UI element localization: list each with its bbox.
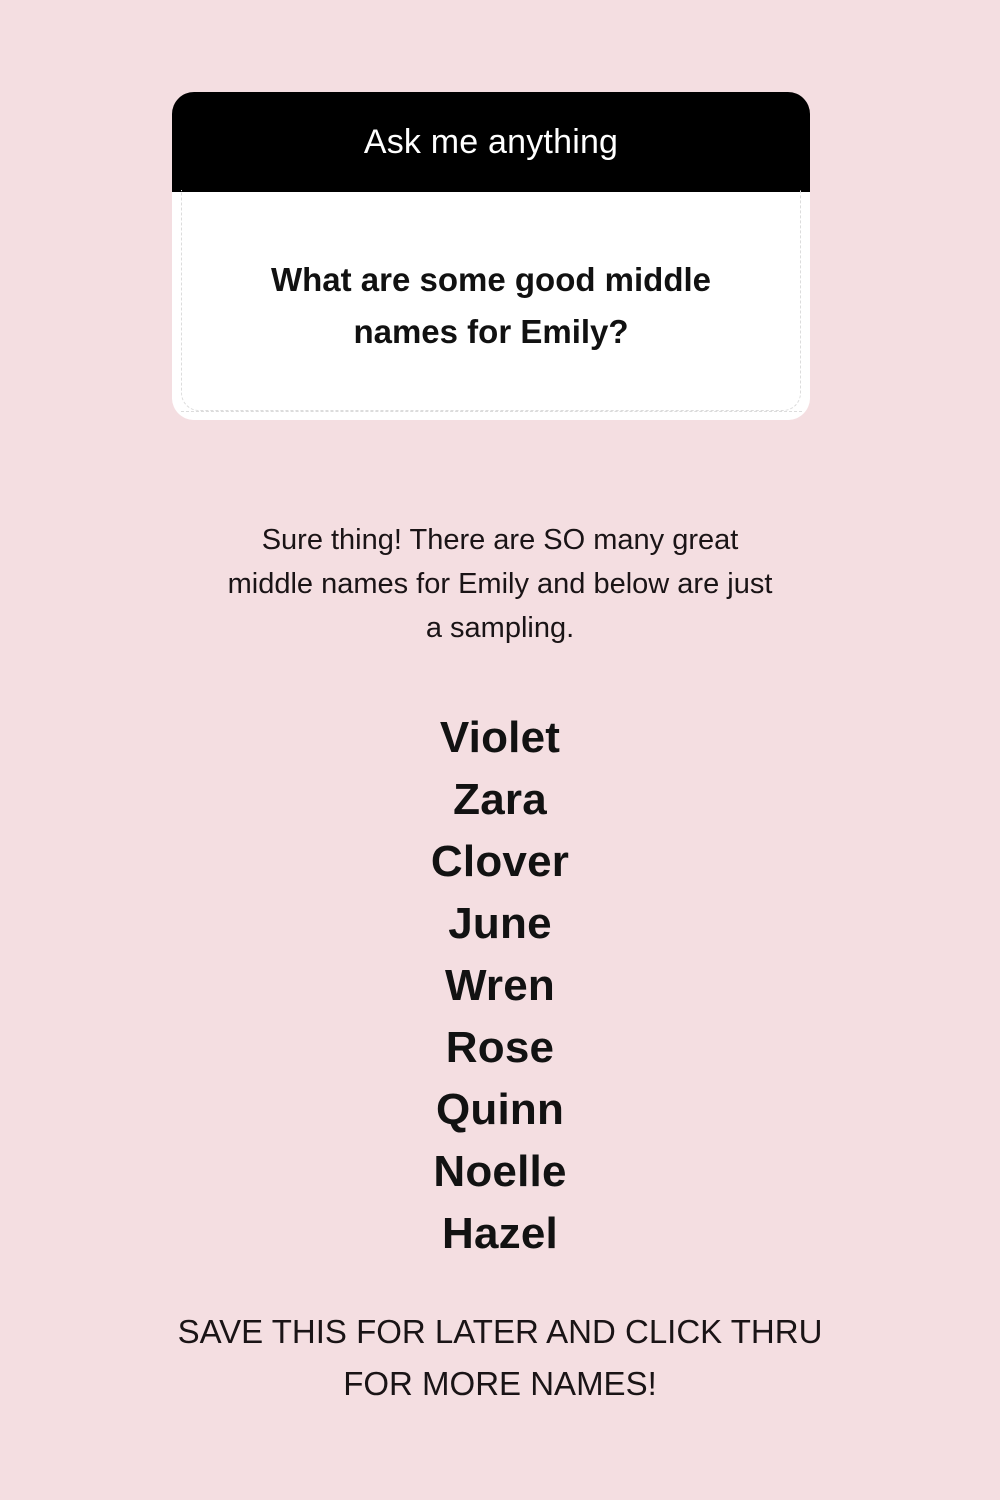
answer-intro-text: Sure thing! There are SO many great midd… xyxy=(220,518,780,650)
list-item: Clover xyxy=(0,831,1000,893)
list-item: Zara xyxy=(0,769,1000,831)
list-item: Violet xyxy=(0,707,1000,769)
list-item: Rose xyxy=(0,1017,1000,1079)
middle-names-list: Violet Zara Clover June Wren Rose Quinn … xyxy=(0,707,1000,1265)
ask-me-anything-card: Ask me anything What are some good middl… xyxy=(172,92,810,420)
list-item: Wren xyxy=(0,955,1000,1017)
list-item: Hazel xyxy=(0,1203,1000,1265)
question-text: What are some good middle names for Emil… xyxy=(211,254,771,358)
list-item: Quinn xyxy=(0,1079,1000,1141)
card-body: What are some good middle names for Emil… xyxy=(172,192,810,420)
list-item: June xyxy=(0,893,1000,955)
save-for-later-cta: SAVE THIS FOR LATER AND CLICK THRU FOR M… xyxy=(150,1306,850,1410)
pinterest-style-infographic: { "theme": { "background_color": "#f4dee… xyxy=(0,0,1000,1500)
card-header-bar: Ask me anything xyxy=(172,92,810,192)
card-header-title: Ask me anything xyxy=(364,125,618,159)
list-item: Noelle xyxy=(0,1141,1000,1203)
